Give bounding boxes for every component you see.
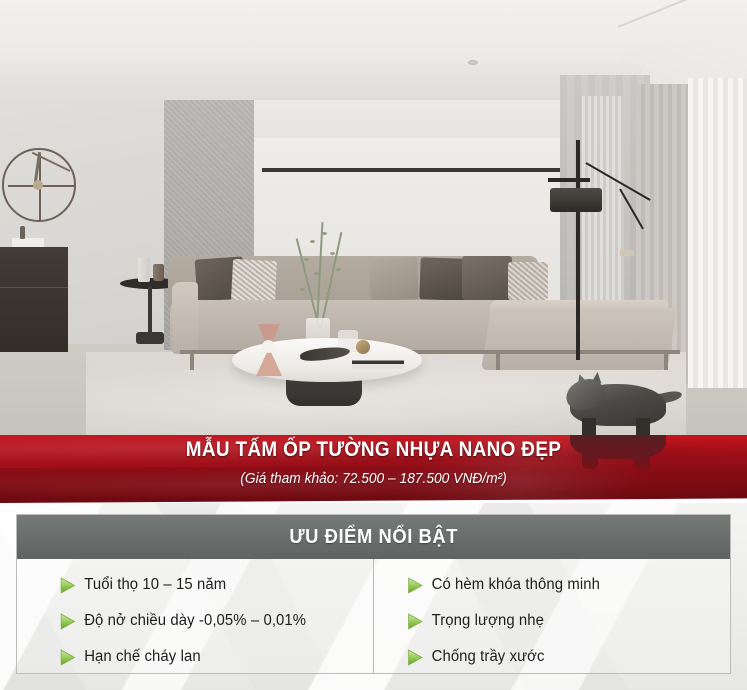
plant-leaf	[326, 292, 331, 295]
throw-pillow	[419, 257, 466, 301]
table-gold-sphere	[356, 340, 370, 354]
throw-pillow	[508, 262, 548, 300]
arrow-right-icon	[59, 649, 75, 666]
arrow-right-icon	[407, 577, 423, 594]
feature-item: Có hèm khóa thông minh	[374, 567, 716, 603]
sofa-leg	[190, 352, 194, 370]
cat-sculpture-overlay	[570, 435, 682, 469]
wall-reveal-line	[262, 168, 584, 172]
curtain-white	[688, 78, 747, 388]
arrow-right-icon	[407, 649, 423, 666]
dark-cabinet	[0, 247, 68, 352]
plant-leaf	[330, 252, 335, 255]
plant-leaf	[310, 240, 315, 243]
plant-leaf	[314, 272, 319, 275]
feature-label: Có hèm khóa thông minh	[432, 576, 600, 594]
features-section: ƯU ĐIỂM NỔI BẬT	[0, 503, 747, 690]
side-table-vase-tall	[138, 258, 150, 282]
sofa-arm-left	[172, 282, 198, 354]
cabinet-vase	[20, 226, 25, 239]
table-books	[352, 356, 404, 369]
cat-overlay-leg	[634, 451, 650, 469]
arrow-right-icon	[59, 613, 75, 630]
feature-label: Hạn chế cháy lan	[84, 648, 201, 666]
cabinet-seam	[0, 287, 68, 288]
side-table-base	[136, 332, 164, 344]
features-body: Tuổi thọ 10 – 15 năm Độ nở chiều dày -0,…	[17, 559, 730, 673]
feature-label: Trọng lượng nhẹ	[432, 612, 544, 630]
floor-lamp-crossbar	[548, 178, 590, 182]
feature-label: Tuổi thọ 10 – 15 năm	[84, 576, 226, 594]
table-sphere-ornament	[262, 340, 275, 353]
feature-label: Độ nở chiều dày -0,05% – 0,01%	[84, 612, 306, 630]
plant-leaf	[304, 258, 309, 261]
title-banner: MẪU TẤM ỐP TƯỜNG NHỰA NANO ĐẸP (Giá tham…	[0, 435, 747, 503]
feature-item: Trọng lượng nhẹ	[374, 603, 716, 639]
interior-photo	[0, 0, 747, 440]
arrow-right-icon	[407, 613, 423, 630]
clock-center	[33, 180, 43, 190]
downlight-icon	[468, 60, 478, 65]
side-table-vase-short	[153, 264, 164, 281]
sofa-leg	[664, 352, 668, 370]
cabinet-tray	[12, 238, 44, 247]
features-box: ƯU ĐIỂM NỔI BẬT	[16, 514, 731, 674]
throw-pillow	[369, 257, 418, 301]
arrow-right-icon	[59, 577, 75, 594]
features-header-title: ƯU ĐIỂM NỔI BẬT	[289, 526, 458, 549]
sofa-leg	[496, 352, 500, 370]
plant-leaf	[322, 232, 327, 235]
feature-label: Chống trầy xước	[432, 648, 545, 666]
promo-page: MẪU TẤM ỐP TƯỜNG NHỰA NANO ĐẸP (Giá tham…	[0, 0, 747, 690]
feature-item: Chống trầy xước	[374, 639, 716, 675]
banner-subtitle: (Giá tham khảo: 72.500 – 187.500 VNĐ/m²)	[19, 471, 729, 487]
feature-item: Hạn chế cháy lan	[17, 639, 359, 675]
wall-upper-panel	[254, 100, 584, 138]
features-header-bar: ƯU ĐIỂM NỔI BẬT	[17, 515, 730, 559]
throw-pillow	[231, 259, 277, 303]
throw-pillow	[462, 256, 512, 300]
floor-lamp-shade	[550, 188, 602, 212]
plant-leaf	[336, 268, 341, 271]
floor-lamp-pole	[576, 140, 580, 360]
feature-item: Tuổi thọ 10 – 15 năm	[17, 567, 359, 603]
features-column-right: Có hèm khóa thông minh Trọng lượng nhẹ	[374, 559, 730, 673]
feature-item: Độ nở chiều dày -0,05% – 0,01%	[17, 603, 359, 639]
features-column-left: Tuổi thọ 10 – 15 năm Độ nở chiều dày -0,…	[17, 559, 374, 673]
floor-lamp-band	[620, 250, 634, 256]
cat-overlay-leg	[582, 451, 598, 469]
side-table-leg	[148, 286, 152, 338]
plant-leaf	[300, 288, 305, 291]
